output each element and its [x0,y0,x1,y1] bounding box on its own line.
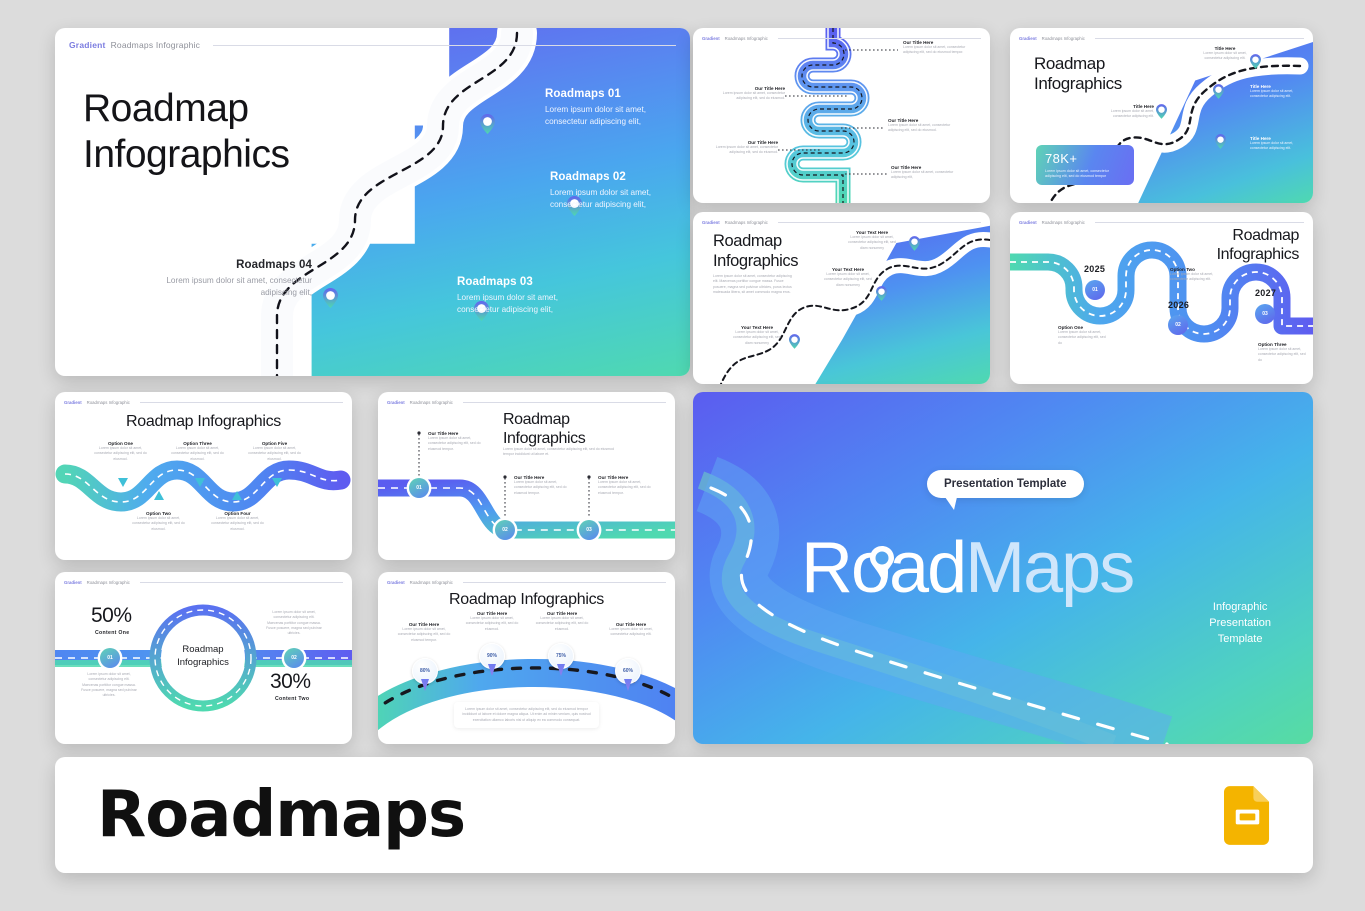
item-text-block: Your Text Here Lorem ipsum dolor sit ame… [848,230,896,251]
percent-value: 50% [91,604,132,628]
item-desc: Lorem ipsum dolor sit amet, consectetur … [1102,109,1154,120]
item-text-block: Title Here Lorem ipsum dolor sit amet, c… [1102,104,1154,120]
step-number-badge: 01 [99,647,121,669]
header-rule [140,582,343,583]
percent-value: 30% [270,670,311,694]
brand-suffix: Roadmaps Infographic [1042,220,1085,225]
item-text-block: Our Title Here Lorem ipsum dolor sit ame… [598,475,656,496]
map-pin-icon [1215,134,1226,149]
slide-wave-options[interactable]: Gradient Roadmaps Infographic Roadmap In… [55,392,352,560]
brand-suffix: Roadmaps Infographic [410,580,453,585]
roadmap-item-title: Roadmaps 02 [550,171,680,183]
map-pin-icon [323,288,338,308]
map-pin-icon [1156,104,1167,119]
center-line2: Infographics [163,657,243,670]
header-rule [140,402,343,403]
left-desc: Lorem ipsum dolor sit amet, consectetur … [80,672,138,698]
step-number-badge: 01 [1085,280,1105,300]
map-pin-icon [1250,54,1261,69]
cover-subtitle: Infographic Presentation Template [1209,600,1271,648]
roadmap-item-desc: Lorem ipsum dolor sit amet, consectetur … [550,187,680,211]
title-line2: Infographics [1034,74,1122,94]
item-desc: Lorem ipsum dolor sit amet, consectetur … [731,330,783,346]
item-desc: Lorem ipsum dolor sit amet, consectetur … [848,235,896,251]
year-label: 2026 [1168,300,1189,310]
header-rule [1095,38,1304,39]
percent-pin-60: 60% [615,658,641,692]
option-desc: Lorem ipsum dolor sit amet, consectetur … [247,446,302,462]
center-label: Roadmap Infographics [163,644,243,670]
brand-suffix: Roadmaps Infographic [1042,36,1085,41]
item-desc: Lorem ipsum dolor sit amet, consectetur … [395,627,453,643]
option-desc: Lorem ipsum dolor sit amet, consectetur … [93,446,148,462]
hero-title-line1: Roadmap [83,86,289,132]
percent-pin-75: 75% [548,643,574,677]
header-rule [463,582,666,583]
item-text-block: Our Title Here Lorem ipsum dolor sit ame… [888,118,963,134]
item-desc: Lorem ipsum dolor sit amet, consectetur … [1200,51,1250,62]
item-desc: Lorem ipsum dolor sit amet, consectetur … [428,436,486,452]
slide-header: Gradient Roadmaps Infographic [55,40,690,50]
percent-pin-80: 80% [412,658,438,692]
page-title: Roadmap Infographics [1217,226,1299,264]
item-text-block: Option One Lorem ipsum dolor sit amet, c… [1058,325,1110,346]
slide-header: Gradient Roadmaps Infographic [693,220,990,225]
brand-prefix: Gradient [1019,36,1037,41]
banner-title: Roadmaps [97,778,465,852]
brand-suffix: Roadmaps Infographic [87,400,130,405]
brand-suffix: Roadmaps Infographic [87,580,130,585]
slide-78k[interactable]: Gradient Roadmaps Infographic Roadmap In… [1010,28,1313,203]
item-text-block: Our Title Here Lorem ipsum dolor sit ame… [514,475,572,496]
item-text-block: Our Title Here Lorem ipsum dolor sit ame… [428,431,486,452]
map-pin-icon [789,334,800,349]
item-text-block: Option Four Lorem ipsum dolor sit amet, … [210,511,265,532]
title-line2: Infographics [713,252,798,272]
map-pin-icon [480,114,495,134]
brand-suffix: Roadmaps Infographic [725,36,768,41]
slide-header: Gradient Roadmaps Infographic [55,580,352,585]
roadmap-item-desc: Lorem ipsum dolor sit amet, consectetur … [162,275,312,299]
item-text-block: Option Two Lorem ipsum dolor sit amet, c… [1170,267,1222,283]
brand-suffix: Roadmaps Infographic [725,220,768,225]
roadmap-item-title: Roadmaps 03 [457,276,592,288]
item-desc: Lorem ipsum dolor sit amet, consectetur … [888,123,963,134]
item-text-block: Option Five Lorem ipsum dolor sit amet, … [247,441,302,462]
item-desc: Lorem ipsum dolor sit amet, consectetur … [1250,141,1305,152]
item-text-block: Your Text Here Lorem ipsum dolor sit ame… [731,325,783,346]
item-text-block: Our Title Here Lorem ipsum dolor sit ame… [463,611,521,632]
pin-tip [557,664,565,676]
item-text-block: Title Here Lorem ipsum dolor sit amet, c… [1250,136,1305,152]
map-pin-icon [865,540,899,590]
item-text-block: Our Title Here Lorem ipsum dolor sit ame… [395,622,453,643]
item-desc: Lorem ipsum dolor sit amet, consectetur … [903,45,978,56]
brand-prefix: Gradient [702,220,720,225]
brand-prefix: Gradient [69,40,106,50]
item-desc: Lorem ipsum dolor sit amet, consectetur … [463,616,521,632]
pin-tip [421,679,429,691]
step-number-badge: 02 [283,647,305,669]
slide-header: Gradient Roadmaps Infographic [693,36,990,41]
title-line2: Infographics [1217,245,1299,264]
item-text-block: Our Title Here Lorem ipsum dolor sit ame… [533,611,591,632]
slide-timeline-years[interactable]: Gradient Roadmaps Infographic Roadmap In… [1010,212,1313,384]
item-text-block: Option Three Lorem ipsum dolor sit amet,… [1258,342,1310,363]
right-desc: Lorem ipsum dolor sit amet, consectetur … [265,610,323,636]
item-text-block: Title Here Lorem ipsum dolor sit amet, c… [1200,46,1250,62]
header-rule [778,222,981,223]
slide-arc-percents[interactable]: Gradient Roadmaps Infographic Roadmap In… [378,572,675,744]
slide-vertical-road[interactable]: Gradient Roadmaps Infographic Our Title … [693,28,990,203]
slide-percent-ring[interactable]: Gradient Roadmaps Infographic Roadmap In… [55,572,352,744]
page-title: Roadmap Infographics [1034,54,1122,95]
item-text-block: Title Here Lorem ipsum dolor sit amet, c… [1250,84,1305,100]
brand-suffix: Roadmaps Infographic [111,40,201,50]
item-text-block: Option One Lorem ipsum dolor sit amet, c… [93,441,148,462]
pin-tip [488,664,496,676]
stat-value: 78K+ [1045,151,1125,166]
item-text-block: Our Title Here Lorem ipsum dolor sit ame… [711,140,778,156]
slide-header: Gradient Roadmaps Infographic [1010,36,1313,41]
brand-suffix: Roadmaps Infographic [410,400,453,405]
roadmap-item-01: Roadmaps 01 Lorem ipsum dolor sit amet, … [545,88,680,128]
subtitle-line2: Presentation [1209,616,1271,632]
roadmap-item-03: Roadmaps 03 Lorem ipsum dolor sit amet, … [457,276,592,316]
brand-prefix: Gradient [1019,220,1037,225]
footnote-text: Lorem ipsum dolor sit amet, consectetur … [461,707,592,723]
stat-badge: 78K+ Lorem ipsum dolor sit amet, consect… [1036,145,1134,185]
slide-header: Gradient Roadmaps Infographic [378,400,675,405]
slide-header: Gradient Roadmaps Infographic [55,400,352,405]
pin-tip [624,679,632,691]
stat-desc: Lorem ipsum dolor sit amet, consectetur … [1045,169,1125,180]
year-label: 2027 [1255,288,1276,298]
year-label: 2025 [1084,264,1105,274]
slide-your-text-here[interactable]: Gradient Roadmaps Infographic Roadmap In… [693,212,990,384]
roadmap-item-02: Roadmaps 02 Lorem ipsum dolor sit amet, … [550,171,680,211]
option-desc: Lorem ipsum dolor sit amet, consectetur … [170,446,225,462]
title-line1: Roadmap [1034,54,1122,74]
google-slides-icon [1224,786,1271,845]
item-text-block: Our Title Here Lorem ipsum dolor sit ame… [718,86,785,102]
item-desc: Lorem ipsum dolor sit amet, consectetur … [711,145,778,156]
percent-pin-90: 90% [479,643,505,677]
item-desc: Lorem ipsum dolor sit amet, consectetur … [823,272,873,288]
subtitle-line3: Template [1209,632,1271,648]
header-rule [778,38,981,39]
step-number-badge: 02 [1168,315,1188,335]
slide-header: Gradient Roadmaps Infographic [1010,220,1313,225]
step-number-badge: 03 [578,519,600,541]
percent-label: Content One [95,630,129,636]
header-rule [463,402,666,403]
page-title: Roadmap Infographics [713,232,798,272]
roadmap-item-desc: Lorem ipsum dolor sit amet, consectetur … [457,292,592,316]
roadmap-item-title: Roadmaps 01 [545,88,680,100]
item-desc: Lorem ipsum dolor sit amet, consectetur … [602,627,660,638]
slide-cover[interactable]: Presentation Template Infographic Assets… [693,392,1313,744]
map-pin-icon [876,286,887,301]
percent-label: Content Two [275,696,309,702]
item-text-block: Option Two Lorem ipsum dolor sit amet, c… [131,511,186,532]
body-text: Lorem ipsum dolor sit amet, consectetur … [713,274,795,295]
roadmap-item-04: Roadmaps 04 Lorem ipsum dolor sit amet, … [162,259,312,299]
title-line1: Roadmap [713,232,798,252]
option-desc: Lorem ipsum dolor sit amet, consectetur … [1170,272,1222,283]
body-text: Lorem ipsum dolor sit amet, consectetur … [503,447,623,458]
brand-prefix: Gradient [387,580,405,585]
item-desc: Lorem ipsum dolor sit amet, consectetur … [718,91,785,102]
slide-hero[interactable]: Gradient Roadmaps Infographic Roadmap In… [55,28,690,376]
option-desc: Lorem ipsum dolor sit amet, consectetur … [131,516,186,532]
page-title: Roadmap Infographics [503,410,585,448]
item-text-block: Our Title Here Lorem ipsum dolor sit ame… [602,622,660,638]
item-text-block: Our Title Here Lorem ipsum dolor sit ame… [891,165,966,181]
center-line1: Roadmap [163,644,243,657]
option-desc: Lorem ipsum dolor sit amet, consectetur … [1058,330,1110,346]
option-desc: Lorem ipsum dolor sit amet, consectetur … [1258,347,1310,363]
hero-title-line2: Infographics [83,132,289,178]
brand-prefix: Gradient [64,580,82,585]
brand-prefix: Gradient [702,36,720,41]
header-rule [1095,222,1304,223]
page-title: Roadmap Infographics [83,86,289,178]
wordmark-maps: Maps [965,528,1133,608]
item-text-block: Your Text Here Lorem ipsum dolor sit ame… [823,267,873,288]
brand-prefix: Gradient [387,400,405,405]
title-line2: Infographics [503,429,585,448]
cover-wordmark: RoadMaps [801,532,1133,604]
item-text-block: Our Title Here Lorem ipsum dolor sit ame… [903,40,978,56]
map-pin-icon [909,236,920,251]
slide-header: Gradient Roadmaps Infographic [378,580,675,585]
roadmap-item-desc: Lorem ipsum dolor sit amet, consectetur … [545,104,680,128]
step-number-badge: 03 [1255,304,1275,324]
footnote-card: Lorem ipsum dolor sit amet, consectetur … [454,702,599,728]
bottom-banner: Roadmaps [55,757,1313,873]
item-desc: Lorem ipsum dolor sit amet, consectetur … [514,480,572,496]
item-desc: Lorem ipsum dolor sit amet, consectetur … [1250,89,1305,100]
item-desc: Lorem ipsum dolor sit amet, consectetur … [533,616,591,632]
subtitle-line1: Infographic [1209,600,1271,616]
step-number-badge: 02 [494,519,516,541]
title-line1: Roadmap [503,410,585,429]
header-rule [213,45,676,46]
map-pin-icon [1213,84,1224,99]
title-line1: Roadmap [1217,226,1299,245]
item-desc: Lorem ipsum dolor sit amet, consectetur … [891,170,966,181]
item-text-block: Option Three Lorem ipsum dolor sit amet,… [170,441,225,462]
roadmap-item-title: Roadmaps 04 [162,259,312,271]
option-desc: Lorem ipsum dolor sit amet, consectetur … [210,516,265,532]
brand-prefix: Gradient [64,400,82,405]
slide-step-road[interactable]: Gradient Roadmaps Infographic 01 02 03 R… [378,392,675,560]
item-desc: Lorem ipsum dolor sit amet, consectetur … [598,480,656,496]
wave-road-graphic [55,392,352,560]
bubble-presentation-template: Presentation Template [927,470,1084,498]
step-number-badge: 01 [408,477,430,499]
